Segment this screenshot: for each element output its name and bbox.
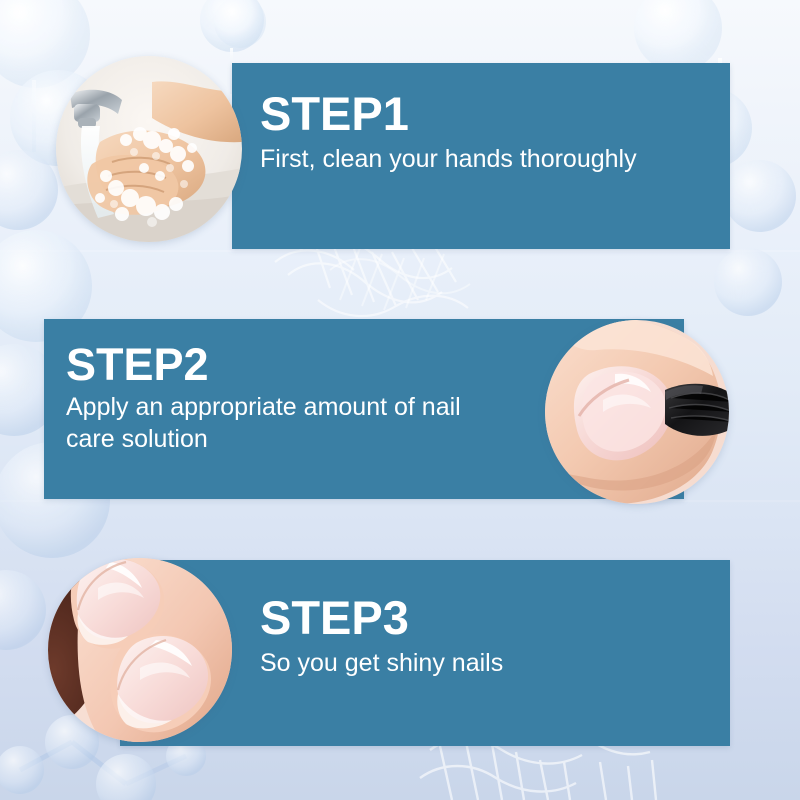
nail-brush-photo-svg	[545, 320, 729, 504]
shiny-nails-photo	[48, 558, 232, 742]
step-1-title: STEP1	[260, 89, 637, 138]
infographic-poster: STEP1 First, clean your hands thoroughly	[0, 0, 800, 800]
washing-hands-photo	[56, 56, 242, 242]
step-3-description: So you get shiny nails	[260, 648, 503, 680]
nail-brush-application-photo	[545, 320, 729, 504]
step-2-title: STEP2	[66, 341, 496, 388]
shiny-nails-photo-svg	[48, 558, 232, 742]
washing-hands-photo-svg	[56, 56, 242, 242]
step-card-1: STEP1 First, clean your hands thoroughly	[232, 63, 730, 249]
step-2-text-block: STEP2 Apply an appropriate amount of nai…	[66, 341, 496, 455]
step-3-title: STEP3	[260, 593, 503, 642]
step-2-description: Apply an appropriate amount of nail care…	[66, 392, 496, 455]
dna-helix-outline-secondary-icon	[330, 248, 470, 310]
step-3-text-block: STEP3 So you get shiny nails	[260, 593, 503, 680]
step-1-description: First, clean your hands thoroughly	[260, 144, 637, 176]
step-1-text-block: STEP1 First, clean your hands thoroughly	[260, 89, 637, 176]
